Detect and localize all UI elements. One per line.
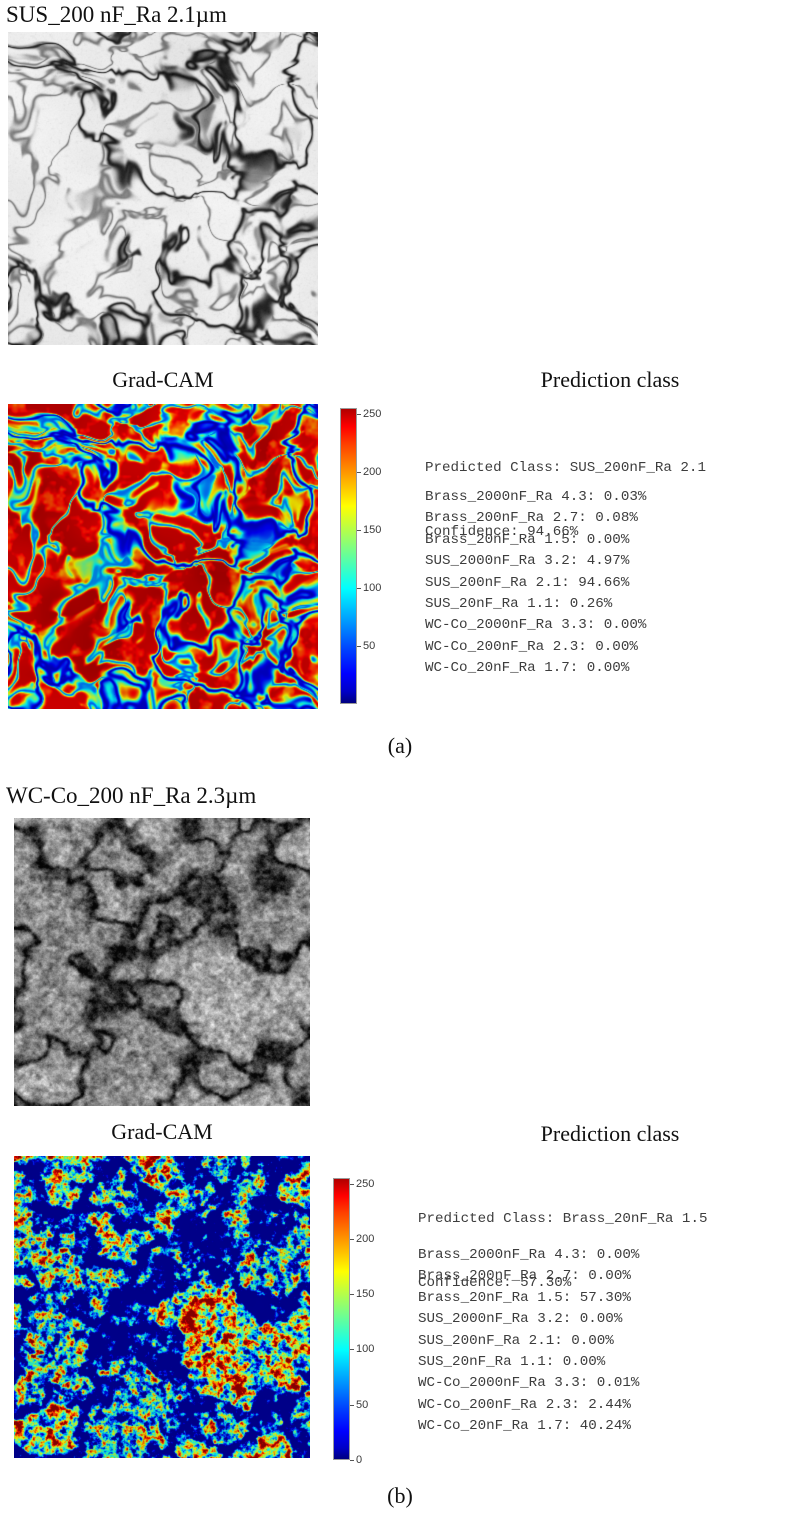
class-score-row: WC-Co_2000nF_Ra 3.3: 0.00% bbox=[425, 615, 646, 636]
colorbar-tick: 50 bbox=[350, 1399, 368, 1411]
class-score-row: WC-Co_2000nF_Ra 3.3: 0.01% bbox=[418, 1373, 639, 1394]
texture-canvas bbox=[14, 818, 310, 1106]
colorbar-gradient-a bbox=[340, 408, 357, 704]
panel-b-title: WC-Co_200 nF_Ra 2.3µm bbox=[6, 783, 256, 809]
prediction-class-label-a: Prediction class bbox=[430, 368, 790, 392]
class-score-row: Brass_200nF_Ra 2.7: 0.08% bbox=[425, 508, 646, 529]
class-score-row: Brass_20nF_Ra 1.5: 0.00% bbox=[425, 530, 646, 551]
colorbar-tick: 100 bbox=[357, 582, 381, 594]
class-score-row: SUS_20nF_Ra 1.1: 0.26% bbox=[425, 594, 646, 615]
sem-micrograph-b bbox=[14, 818, 310, 1106]
prediction-class-label-b: Prediction class bbox=[430, 1122, 790, 1146]
gradcam-heatmap-a bbox=[8, 404, 318, 709]
colorbar-tick: 200 bbox=[350, 1233, 374, 1245]
class-score-row: WC-Co_20nF_Ra 1.7: 0.00% bbox=[425, 658, 646, 679]
class-score-row: Brass_2000nF_Ra 4.3: 0.03% bbox=[425, 487, 646, 508]
class-score-row: SUS_2000nF_Ra 3.2: 0.00% bbox=[418, 1309, 639, 1330]
colorbar-tick: 150 bbox=[357, 524, 381, 536]
subfigure-label-a: (a) bbox=[360, 733, 440, 759]
colorbar-tick: 100 bbox=[350, 1343, 374, 1355]
gradcam-label-a: Grad-CAM bbox=[8, 368, 318, 392]
class-score-row: WC-Co_200nF_Ra 2.3: 2.44% bbox=[418, 1395, 639, 1416]
colorbar-b: 250200150100500 bbox=[333, 1178, 350, 1460]
class-score-row: WC-Co_20nF_Ra 1.7: 40.24% bbox=[418, 1416, 639, 1437]
colorbar-a: 25020015010050 bbox=[340, 408, 357, 704]
class-score-row: Brass_200nF_Ra 2.7: 0.00% bbox=[418, 1266, 639, 1287]
class-score-row: SUS_2000nF_Ra 3.2: 4.97% bbox=[425, 551, 646, 572]
class-score-row: Brass_2000nF_Ra 4.3: 0.00% bbox=[418, 1245, 639, 1266]
colorbar-tick: 200 bbox=[357, 466, 381, 478]
class-score-row: Brass_20nF_Ra 1.5: 57.30% bbox=[418, 1288, 639, 1309]
texture-canvas bbox=[14, 1156, 310, 1458]
colorbar-tick: 0 bbox=[350, 1454, 362, 1466]
gradcam-label-b: Grad-CAM bbox=[14, 1120, 310, 1144]
class-score-list-b: Brass_2000nF_Ra 4.3: 0.00%Brass_200nF_Ra… bbox=[418, 1245, 639, 1438]
colorbar-gradient-b bbox=[333, 1178, 350, 1460]
panel-a-title: SUS_200 nF_Ra 2.1µm bbox=[6, 2, 227, 28]
class-score-list-a: Brass_2000nF_Ra 4.3: 0.03%Brass_200nF_Ra… bbox=[425, 487, 646, 680]
colorbar-tick: 150 bbox=[350, 1288, 374, 1300]
colorbar-tick: 250 bbox=[357, 408, 381, 420]
sem-micrograph-a bbox=[8, 32, 318, 345]
texture-canvas bbox=[8, 32, 318, 345]
predicted-class-line-b: Predicted Class: Brass_20nF_Ra 1.5 bbox=[418, 1209, 707, 1230]
predicted-class-line-a: Predicted Class: SUS_200nF_Ra 2.1 bbox=[425, 458, 706, 479]
class-score-row: SUS_20nF_Ra 1.1: 0.00% bbox=[418, 1352, 639, 1373]
colorbar-tick: 250 bbox=[350, 1178, 374, 1190]
gradcam-heatmap-b bbox=[14, 1156, 310, 1458]
class-score-row: SUS_200nF_Ra 2.1: 0.00% bbox=[418, 1331, 639, 1352]
colorbar-tick: 50 bbox=[357, 640, 375, 652]
subfigure-label-b: (b) bbox=[360, 1483, 440, 1509]
class-score-row: WC-Co_200nF_Ra 2.3: 0.00% bbox=[425, 637, 646, 658]
texture-canvas bbox=[8, 404, 318, 709]
class-score-row: SUS_200nF_Ra 2.1: 94.66% bbox=[425, 573, 646, 594]
